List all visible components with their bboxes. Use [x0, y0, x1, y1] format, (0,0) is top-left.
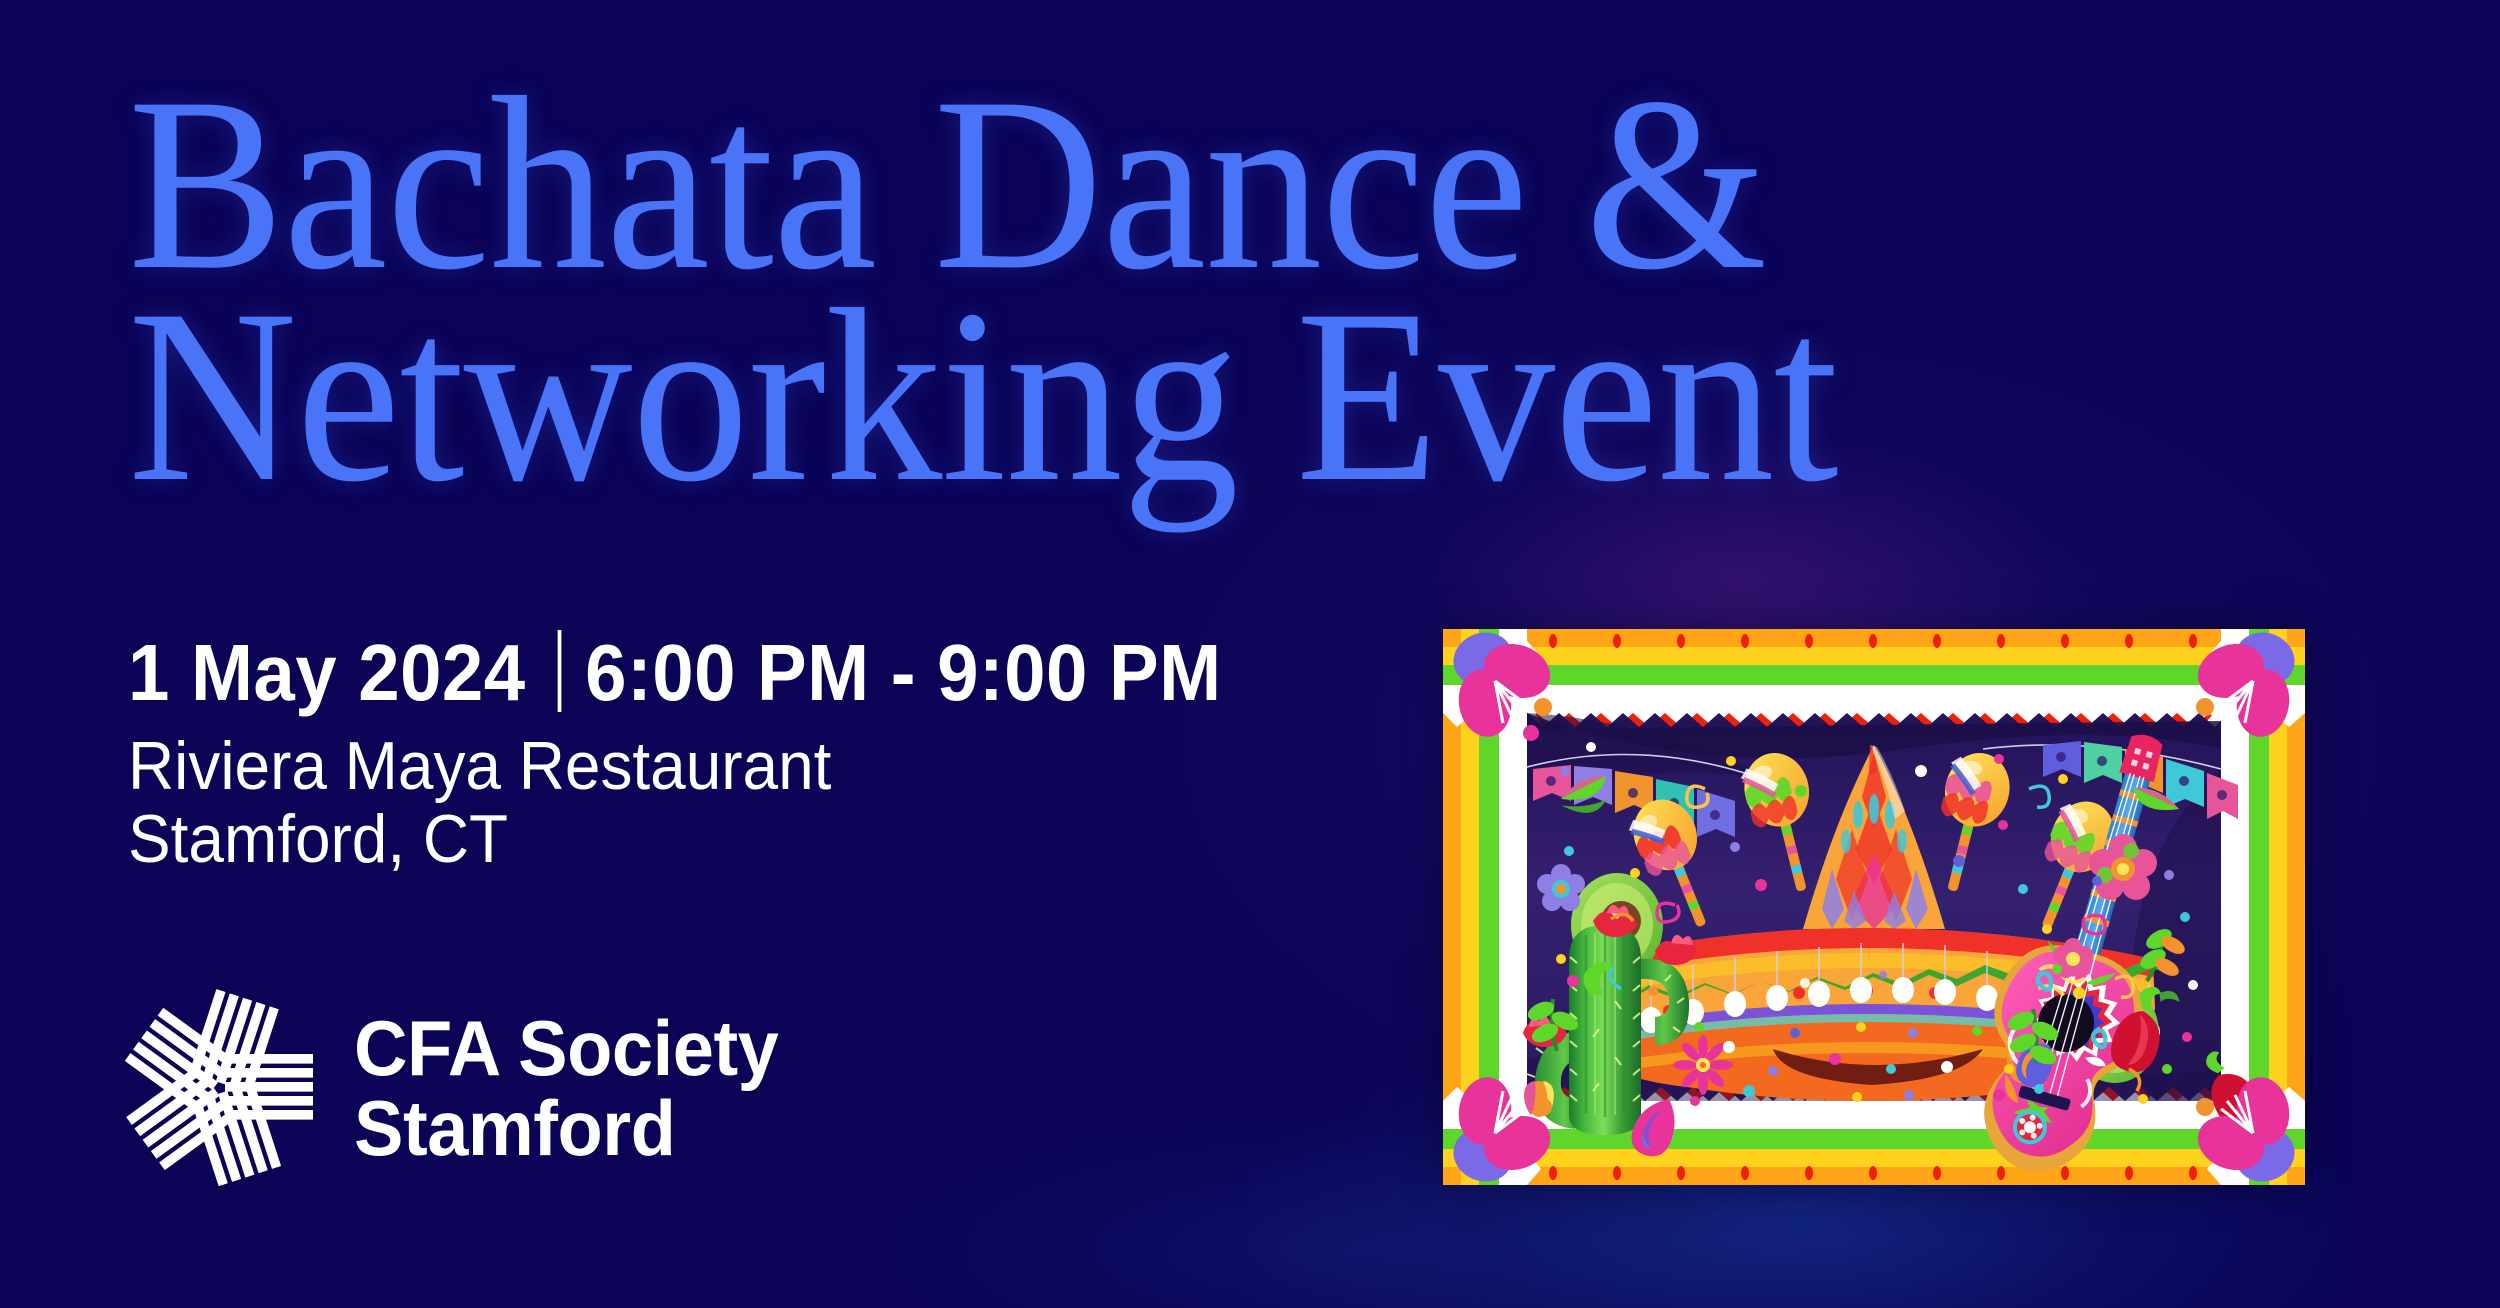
fiesta-artwork: [1443, 629, 2305, 1185]
venue-city: Stamford, CT: [128, 803, 831, 876]
event-venue: Riviera Maya Restaurant Stamford, CT: [128, 730, 831, 876]
cfa-pinwheel-icon: [120, 988, 320, 1188]
venue-name: Riviera Maya Restaurant: [128, 730, 831, 803]
event-datetime: 1 May 2024 6:00 PM - 9:00 PM: [128, 618, 1222, 719]
fiesta-illustration-svg: [1443, 629, 2305, 1185]
event-date: 1 May 2024: [128, 627, 526, 719]
cfa-society-logo: CFA Society Stamford: [120, 988, 801, 1188]
cfa-society-logo-text: CFA Society Stamford: [354, 1008, 778, 1169]
logo-line-1: CFA Society: [354, 1008, 778, 1088]
datetime-divider: [557, 630, 561, 712]
event-banner: Bachata Dance & Networking Event 1 May 2…: [0, 0, 2500, 1308]
logo-line-2: Stamford: [354, 1088, 778, 1168]
event-title: Bachata Dance & Networking Event: [128, 78, 2131, 502]
event-time: 6:00 PM - 9:00 PM: [585, 627, 1221, 719]
